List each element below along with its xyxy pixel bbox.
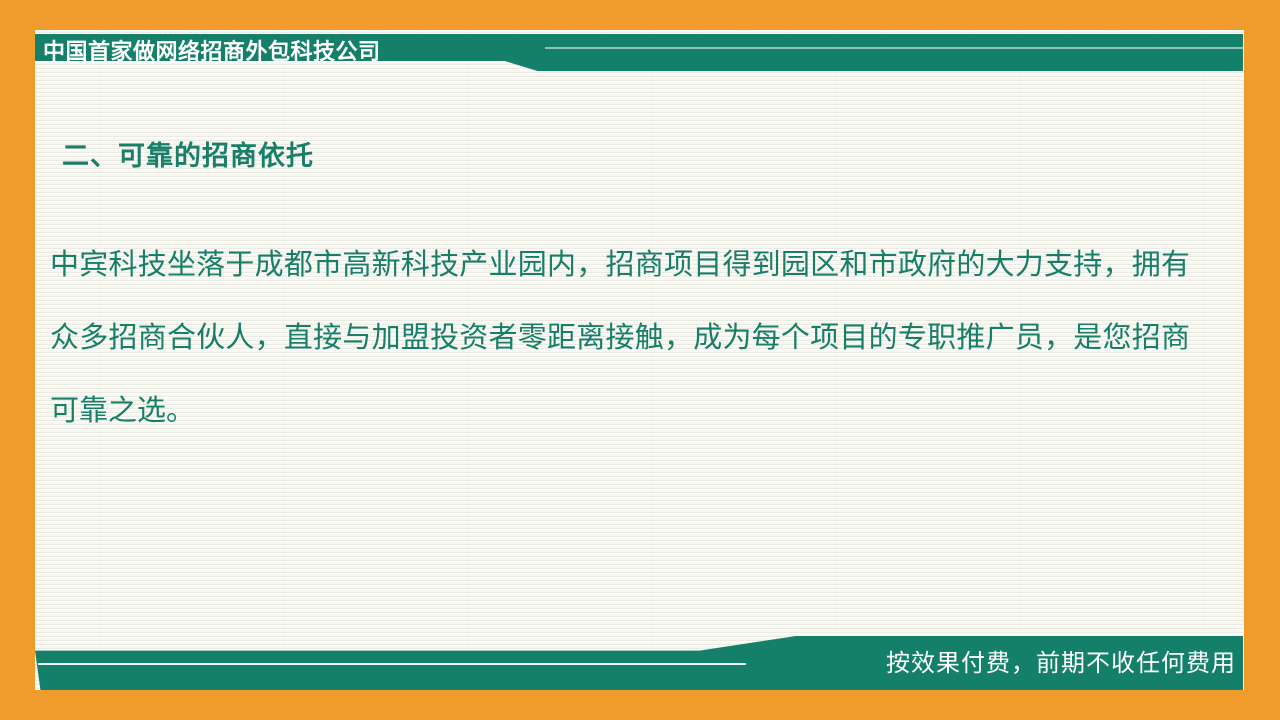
- footer-hairline-divider: [38, 663, 746, 665]
- slide-canvas: 中国首家做网络招商外包科技公司 二、可靠的招商依托 中宾科技坐落于成都市高新科技…: [0, 0, 1280, 720]
- header-hairline-divider: [545, 47, 1243, 49]
- footer-tagline: 按效果付费，前期不收任何费用: [886, 645, 1236, 681]
- body-paragraph: 中宾科技坐落于成都市高新科技产业园内，招商项目得到园区和市政府的大力支持，拥有众…: [50, 228, 1190, 447]
- section-heading: 二、可靠的招商依托: [62, 134, 314, 173]
- header-title: 中国首家做网络招商外包科技公司: [43, 36, 381, 70]
